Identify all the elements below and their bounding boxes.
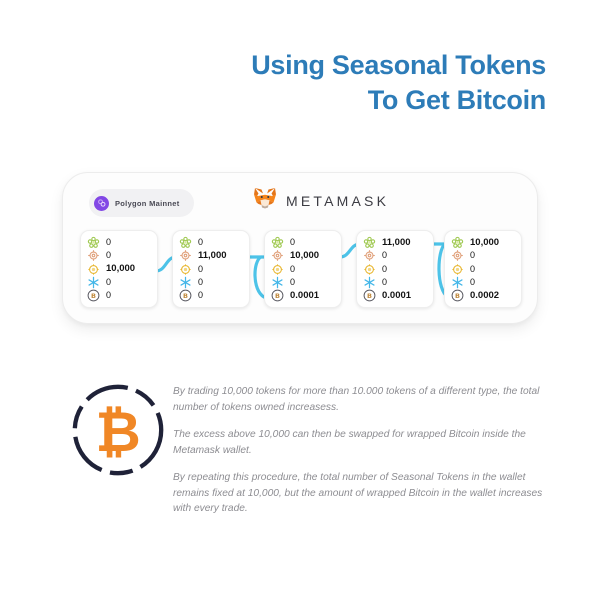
token-row: 0 <box>363 263 429 276</box>
spring-flower-icon <box>179 236 192 249</box>
token-row: 11,000 <box>179 249 245 262</box>
token-value: 0 <box>470 265 475 274</box>
explanation-text: By trading 10,000 tokens for more than 1… <box>173 384 555 517</box>
token-row: B0 <box>179 289 245 302</box>
token-value: 0 <box>470 278 475 287</box>
token-value: 0.0001 <box>382 291 411 301</box>
summer-flower-icon <box>179 249 192 262</box>
token-row: 0 <box>87 236 153 249</box>
metamask-brand: METAMASK <box>253 187 389 214</box>
token-value: 0.0001 <box>290 291 319 301</box>
token-row: 0 <box>451 249 517 262</box>
token-card-2[interactable]: 0 11,000 0 0 B0 <box>172 230 250 308</box>
bitcoin-coin-icon: B <box>451 289 464 302</box>
token-card-5[interactable]: 10,000 0 0 0 B0.0002 <box>444 230 522 308</box>
autumn-flower-icon <box>179 263 192 276</box>
token-row: 0 <box>271 236 337 249</box>
explanation-paragraph-3: By repeating this procedure, the total n… <box>173 470 555 517</box>
winter-snowflake-icon <box>363 276 376 289</box>
token-value: 11,000 <box>198 251 227 261</box>
token-value: 0 <box>106 278 111 287</box>
token-value: 0 <box>198 278 203 287</box>
token-row: 0 <box>363 249 429 262</box>
spring-flower-icon <box>451 236 464 249</box>
metamask-wallet-panel: Polygon Mainnet <box>62 172 538 324</box>
token-value: 0 <box>198 291 203 300</box>
summer-flower-icon <box>363 249 376 262</box>
polygon-icon <box>94 196 109 211</box>
svg-text:B: B <box>455 292 460 300</box>
bitcoin-coin-icon: B <box>363 289 376 302</box>
token-value: 0 <box>382 278 387 287</box>
metamask-fox-icon <box>253 187 277 214</box>
token-value: 0 <box>382 265 387 274</box>
autumn-flower-icon <box>363 263 376 276</box>
summer-flower-icon <box>87 249 100 262</box>
spring-flower-icon <box>363 236 376 249</box>
token-row: B0 <box>87 289 153 302</box>
token-row: 11,000 <box>363 236 429 249</box>
winter-snowflake-icon <box>87 276 100 289</box>
bitcoin-coin-icon: B <box>271 289 284 302</box>
token-row: 0 <box>179 276 245 289</box>
token-row: 0 <box>451 276 517 289</box>
winter-snowflake-icon <box>179 276 192 289</box>
summer-flower-icon <box>451 249 464 262</box>
token-row: 0 <box>87 249 153 262</box>
token-value: 0 <box>382 251 387 260</box>
token-value: 0 <box>106 291 111 300</box>
bitcoin-logo-icon: ₿ <box>70 382 166 478</box>
token-value: 10,000 <box>290 251 319 261</box>
svg-text:B: B <box>367 292 372 300</box>
page-title: Using Seasonal Tokens To Get Bitcoin <box>251 48 546 117</box>
svg-text:₿: ₿ <box>95 400 140 465</box>
token-row: 0 <box>271 276 337 289</box>
token-row: B0.0002 <box>451 289 517 302</box>
token-value: 0.0002 <box>470 291 499 301</box>
token-row: B0.0001 <box>271 289 337 302</box>
wallet-header: Polygon Mainnet <box>63 183 537 219</box>
explanation-paragraph-1: By trading 10,000 tokens for more than 1… <box>173 384 555 415</box>
token-value: 0 <box>106 251 111 260</box>
token-value: 0 <box>198 265 203 274</box>
svg-text:B: B <box>183 292 188 300</box>
explanation-paragraph-2: The excess above 10,000 can then be swap… <box>173 427 555 458</box>
token-card-4[interactable]: 11,000 0 0 0 B0.0001 <box>356 230 434 308</box>
winter-snowflake-icon <box>271 276 284 289</box>
token-value: 0 <box>290 238 295 247</box>
page-title-line-1: Using Seasonal Tokens <box>251 48 546 83</box>
token-row: 0 <box>451 263 517 276</box>
bitcoin-coin-icon: B <box>179 289 192 302</box>
token-row: 10,000 <box>451 236 517 249</box>
autumn-flower-icon <box>451 263 464 276</box>
token-row: 10,000 <box>271 249 337 262</box>
token-value: 0 <box>290 265 295 274</box>
token-value: 0 <box>198 238 203 247</box>
token-card-1[interactable]: 0 0 10,000 0 B0 <box>80 230 158 308</box>
svg-text:B: B <box>91 292 96 300</box>
spring-flower-icon <box>271 236 284 249</box>
autumn-flower-icon <box>87 263 100 276</box>
network-label: Polygon Mainnet <box>115 199 180 208</box>
token-row: 0 <box>179 236 245 249</box>
token-cards-row: 0 0 10,000 0 B0 0 11,000 0 0 B0 0 10,000… <box>80 230 522 312</box>
token-value: 10,000 <box>106 264 135 274</box>
token-card-3[interactable]: 0 10,000 0 0 B0.0001 <box>264 230 342 308</box>
token-row: 0 <box>87 276 153 289</box>
svg-text:B: B <box>275 292 280 300</box>
token-value: 0 <box>290 278 295 287</box>
token-row: 0 <box>363 276 429 289</box>
bitcoin-coin-icon: B <box>87 289 100 302</box>
page-title-line-2: To Get Bitcoin <box>251 83 546 118</box>
token-value: 11,000 <box>382 238 411 248</box>
token-value: 0 <box>470 251 475 260</box>
token-row: 10,000 <box>87 263 153 276</box>
token-row: 0 <box>271 263 337 276</box>
autumn-flower-icon <box>271 263 284 276</box>
token-row: B0.0001 <box>363 289 429 302</box>
summer-flower-icon <box>271 249 284 262</box>
winter-snowflake-icon <box>451 276 464 289</box>
spring-flower-icon <box>87 236 100 249</box>
token-row: 0 <box>179 263 245 276</box>
token-value: 0 <box>106 238 111 247</box>
network-selector[interactable]: Polygon Mainnet <box>89 189 194 217</box>
token-value: 10,000 <box>470 238 499 248</box>
metamask-wordmark: METAMASK <box>286 193 389 209</box>
